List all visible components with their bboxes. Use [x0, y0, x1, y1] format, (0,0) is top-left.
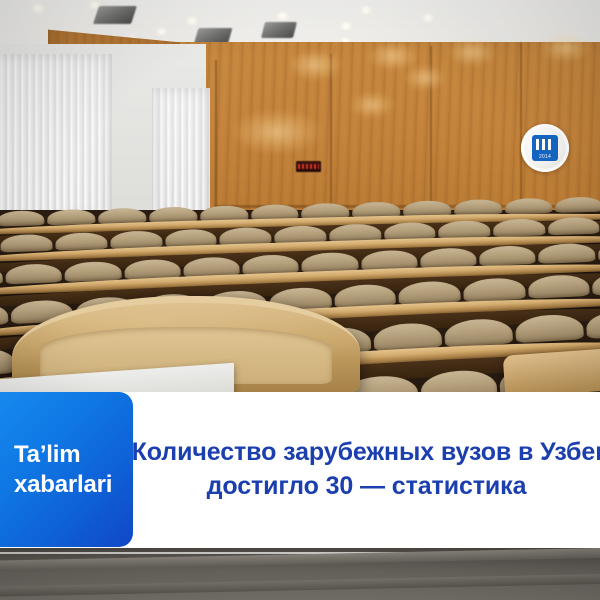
wall-light-glow: [288, 50, 342, 80]
wall-seam: [330, 54, 332, 224]
chair: [505, 198, 553, 214]
red-display-sign: [296, 161, 321, 172]
wall-light-glow: [448, 38, 496, 66]
chair: [55, 232, 107, 251]
chair: [438, 220, 490, 239]
wall-light-glow: [232, 110, 322, 154]
chair: [0, 265, 3, 286]
floor-step: [0, 546, 600, 571]
wall-light-glow: [368, 42, 418, 70]
news-poster: 2014: [0, 0, 600, 600]
chair: [454, 199, 502, 215]
wall-light-glow: [540, 34, 590, 62]
badge-label-line1: Ta’lim: [14, 440, 133, 469]
ceiling-vent: [93, 6, 137, 24]
window-with-blinds: [152, 88, 210, 224]
wall-light-glow: [350, 92, 394, 118]
chair: [48, 209, 96, 225]
floor-step: [0, 572, 600, 597]
chair: [1, 234, 53, 253]
emblem-logo-icon: 2014: [532, 135, 558, 161]
emblem-towers-icon: [536, 139, 554, 150]
chair: [555, 197, 600, 213]
university-emblem: 2014: [521, 124, 569, 172]
ceiling-vent: [261, 22, 297, 38]
downlight: [31, 4, 45, 13]
downlight: [422, 14, 434, 22]
chair: [463, 277, 526, 302]
chair: [493, 218, 545, 237]
downlight: [156, 28, 167, 35]
window-with-blinds: [0, 54, 112, 222]
wall-seam: [215, 60, 217, 220]
chair: [0, 210, 45, 226]
downlight: [360, 6, 372, 14]
chair: [443, 317, 513, 347]
downlight: [276, 12, 289, 20]
emblem-year-label: 2014: [539, 154, 551, 160]
chair: [592, 271, 600, 296]
headline-banner: Ta’lim xabarlari Количество зарубежных в…: [0, 392, 600, 548]
headline-line-2: достигло 30 — статистика: [207, 470, 527, 503]
badge-label-line2: xabarlari: [14, 470, 133, 499]
floor: [0, 540, 600, 600]
category-badge[interactable]: Ta’lim xabarlari: [0, 392, 133, 547]
chair: [5, 263, 62, 284]
chair: [0, 302, 9, 327]
chair: [548, 217, 600, 236]
chair: [479, 245, 536, 266]
chair: [514, 313, 584, 343]
wall-light-glow: [404, 66, 446, 90]
chair: [65, 261, 122, 282]
headline-line-1: Количество зарубежных вузов в Узбекистан…: [132, 436, 600, 469]
headline-text: Количество зарубежных вузов в Узбекистан…: [133, 392, 600, 547]
downlight: [186, 17, 198, 25]
chair: [528, 274, 591, 299]
chair: [538, 243, 595, 264]
side-desk: [503, 348, 600, 397]
downlight: [340, 22, 352, 30]
chair: [585, 309, 600, 339]
